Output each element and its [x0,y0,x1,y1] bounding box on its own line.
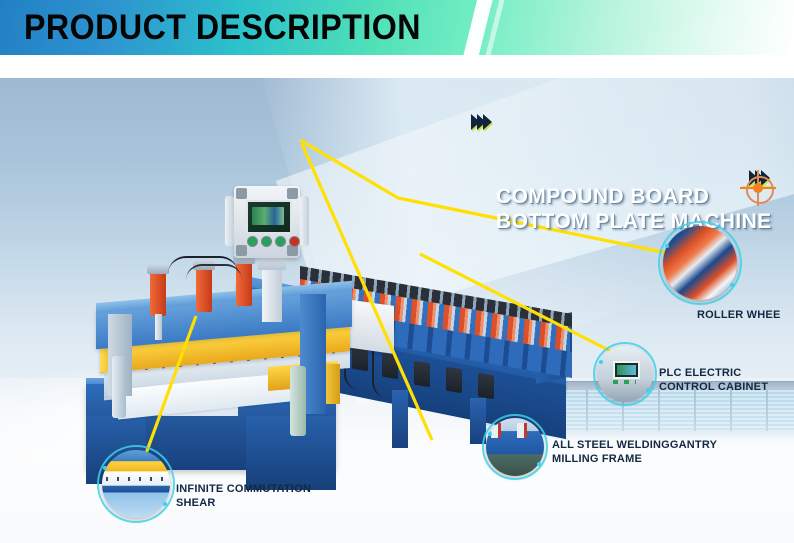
page-title: PRODUCT DESCRIPTION [24,4,421,52]
product-photo-stage: COMPOUND BOARD BOTTOM PLATE MACHINE ROLL… [0,78,794,543]
callout-plc-cabinet[interactable]: PLC ELECTRIC CONTROL CABINET [597,346,653,402]
start-button [247,236,258,247]
emergency-stop-button [289,236,300,247]
callout-shear[interactable]: INFINITE COMMUTATION SHEAR [102,450,170,518]
callout-roller-wheel[interactable]: ROLLER WHEE [663,226,737,300]
callout-label-shear: INFINITE COMMUTATION SHEAR [176,482,346,510]
machine-support-stand [392,390,408,448]
thumbnail-ring [593,342,657,406]
callout-label-roller-wheel: ROLLER WHEE [697,308,794,322]
callout-gantry-frame[interactable]: ALL STEEL WELDINGGANTRY MILLING FRAME [486,418,544,476]
drive-motor [446,367,462,394]
cylinder-cap [147,264,169,274]
run-button [275,236,286,247]
panel-corner [287,188,298,199]
hydraulic-hose [186,264,242,286]
thumbnail-ring [482,414,548,480]
guide-rail-left [112,356,126,418]
panel-corner [236,188,247,199]
hydraulic-cylinder [150,272,166,316]
panel-handle-right [300,196,309,246]
hero-title-line-2: BOTTOM PLATE MACHINE [496,209,786,234]
cylinder-rod [155,314,162,340]
callout-label-gantry-frame: ALL STEEL WELDINGGANTRY MILLING FRAME [552,438,742,466]
guide-rail-right [290,366,306,436]
crosshair-center [753,183,763,193]
panel-handle-left [225,196,234,246]
drive-motor [478,373,494,400]
double-chevron-right-icon [474,114,492,130]
drive-motor [414,361,430,388]
product-description-banner: PRODUCT DESCRIPTION [0,0,794,543]
thumbnail-ring [658,221,742,305]
crosshair-target-icon [740,170,776,206]
plc-control-panel [234,186,300,258]
hmi-screen [246,200,292,234]
panel-mast [262,266,282,322]
jog-button [261,236,272,247]
thumbnail-ring [97,445,175,523]
panel-corner [236,245,247,256]
header-bar: PRODUCT DESCRIPTION [0,0,794,55]
callout-label-plc-cabinet: PLC ELECTRIC CONTROL CABINET [659,366,794,394]
